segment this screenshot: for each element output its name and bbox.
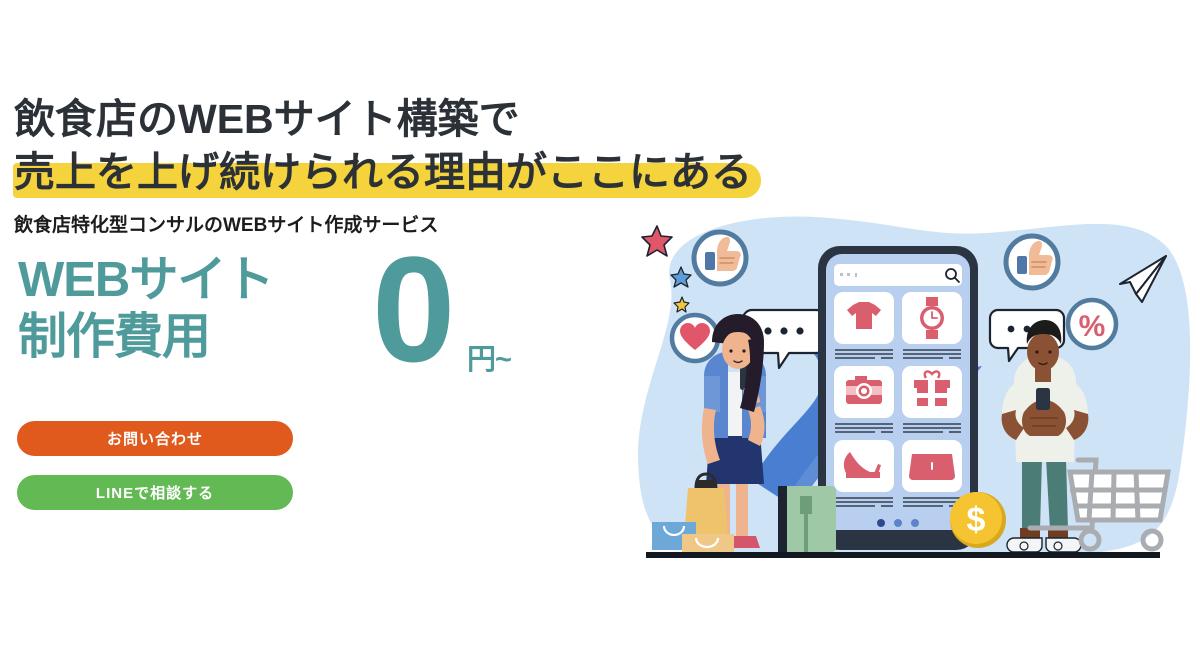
contact-button[interactable]: お問い合わせ bbox=[17, 421, 293, 456]
gold-coin: $ bbox=[950, 492, 1006, 548]
product-card bbox=[834, 440, 894, 492]
camera-icon bbox=[846, 376, 882, 404]
price-amount: 0 bbox=[372, 234, 451, 384]
phone-pager-dots[interactable] bbox=[877, 519, 919, 527]
hero-copy: 飲食店のWEBサイト構築で 売上を上げ続けられる理由がここにある 飲食店特化型コ… bbox=[0, 0, 640, 650]
headline-line-1: 飲食店のWEBサイト構築で bbox=[14, 94, 634, 144]
price-label-line-1: WEBサイト bbox=[18, 252, 273, 309]
ground-line bbox=[646, 552, 1160, 558]
page-title: 飲食店のWEBサイト構築で 売上を上げ続けられる理由がここにある bbox=[14, 94, 634, 197]
ecommerce-shopping-illustration: % bbox=[600, 190, 1200, 580]
svg-text:$: $ bbox=[967, 501, 986, 539]
wallet-icon bbox=[909, 454, 955, 480]
headline-line-2: 売上を上げ続けられる理由がここにある bbox=[14, 147, 634, 197]
star-red bbox=[642, 226, 672, 256]
price-block: WEBサイト 制作費用 0 円~ bbox=[12, 256, 572, 386]
thumbs-up-badge-right bbox=[1006, 236, 1058, 288]
price-unit: 円~ bbox=[467, 336, 511, 378]
heart-badge bbox=[672, 315, 718, 361]
svg-text:%: % bbox=[1079, 310, 1106, 343]
headline-line-2-text: 売上を上げ続けられる理由がここにある bbox=[14, 149, 752, 195]
shopping-bag-tan bbox=[682, 534, 734, 552]
phone-search-bar[interactable] bbox=[834, 264, 962, 286]
percent-badge: % bbox=[1068, 300, 1116, 348]
hero-section: 飲食店のWEBサイト構築で 売上を上げ続けられる理由がここにある 飲食店特化型コ… bbox=[0, 0, 1200, 650]
suitcase-green bbox=[778, 486, 836, 552]
line-consult-button[interactable]: LINEで相談する bbox=[17, 475, 293, 510]
price-label-line-2: 制作費用 bbox=[18, 309, 273, 366]
price-label: WEBサイト 制作費用 bbox=[18, 252, 273, 366]
thumbs-up-badge-left bbox=[694, 232, 746, 284]
